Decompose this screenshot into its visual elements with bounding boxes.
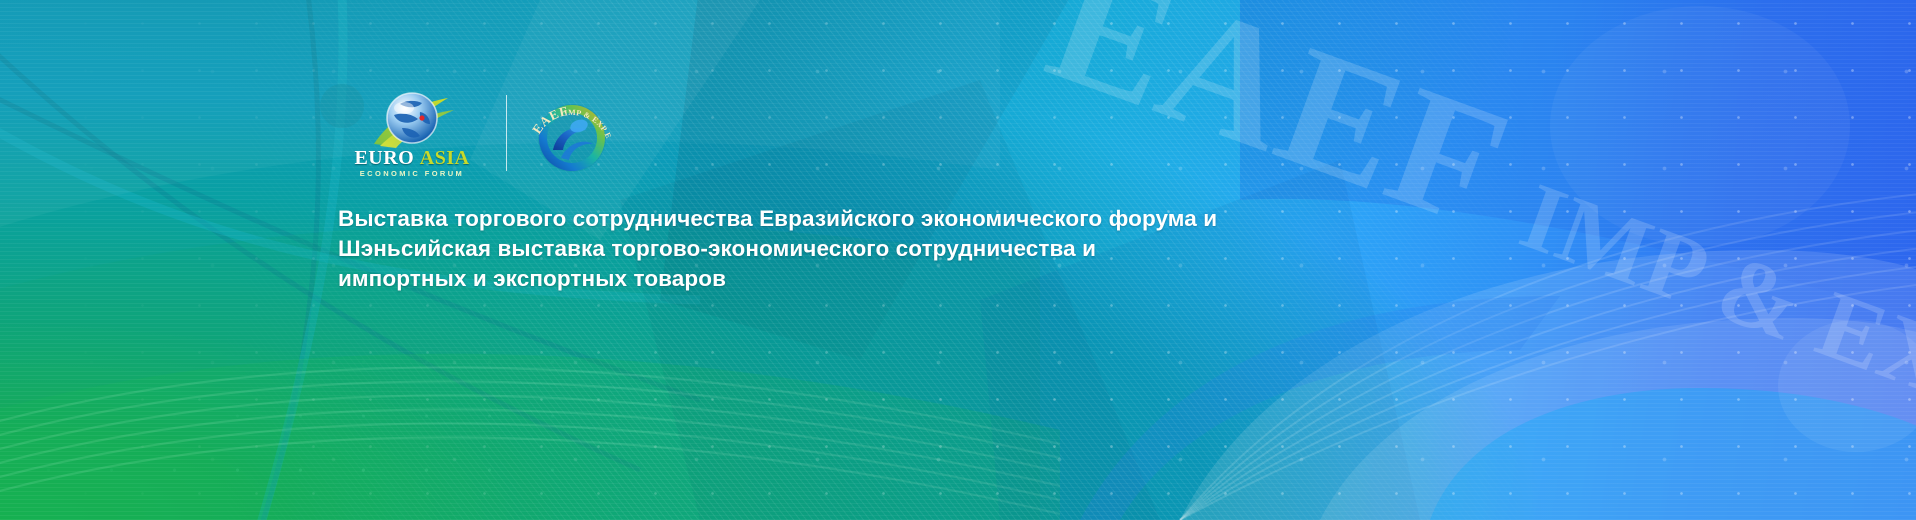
event-banner: EAEF IMP & EXP EXPO [0,0,1916,520]
globe-icon [338,88,486,150]
euro-asia-wordmark: EURO ASIA [354,148,469,168]
title-line-1: Выставка торгового сотрудничества Еврази… [338,204,1138,234]
page-title: Выставка торгового сотрудничества Еврази… [338,204,1138,294]
asia-text: ASIA [420,147,470,169]
title-line-2: Шэньсийская выставка торгово-экономическ… [338,234,1138,264]
logo-row: EURO ASIA ECONOMIC FORUM [338,88,1538,178]
euro-text: EURO [354,147,414,169]
banner-content: EURO ASIA ECONOMIC FORUM [338,88,1538,294]
eaef-logo[interactable]: EAEF IMP & EXP EXPO [527,88,617,178]
euro-asia-logo[interactable]: EURO ASIA ECONOMIC FORUM [338,88,486,178]
economic-forum-subtitle: ECONOMIC FORUM [360,170,464,178]
title-line-3: импортных и экспортных товаров [338,264,1138,294]
logo-divider [506,95,507,171]
